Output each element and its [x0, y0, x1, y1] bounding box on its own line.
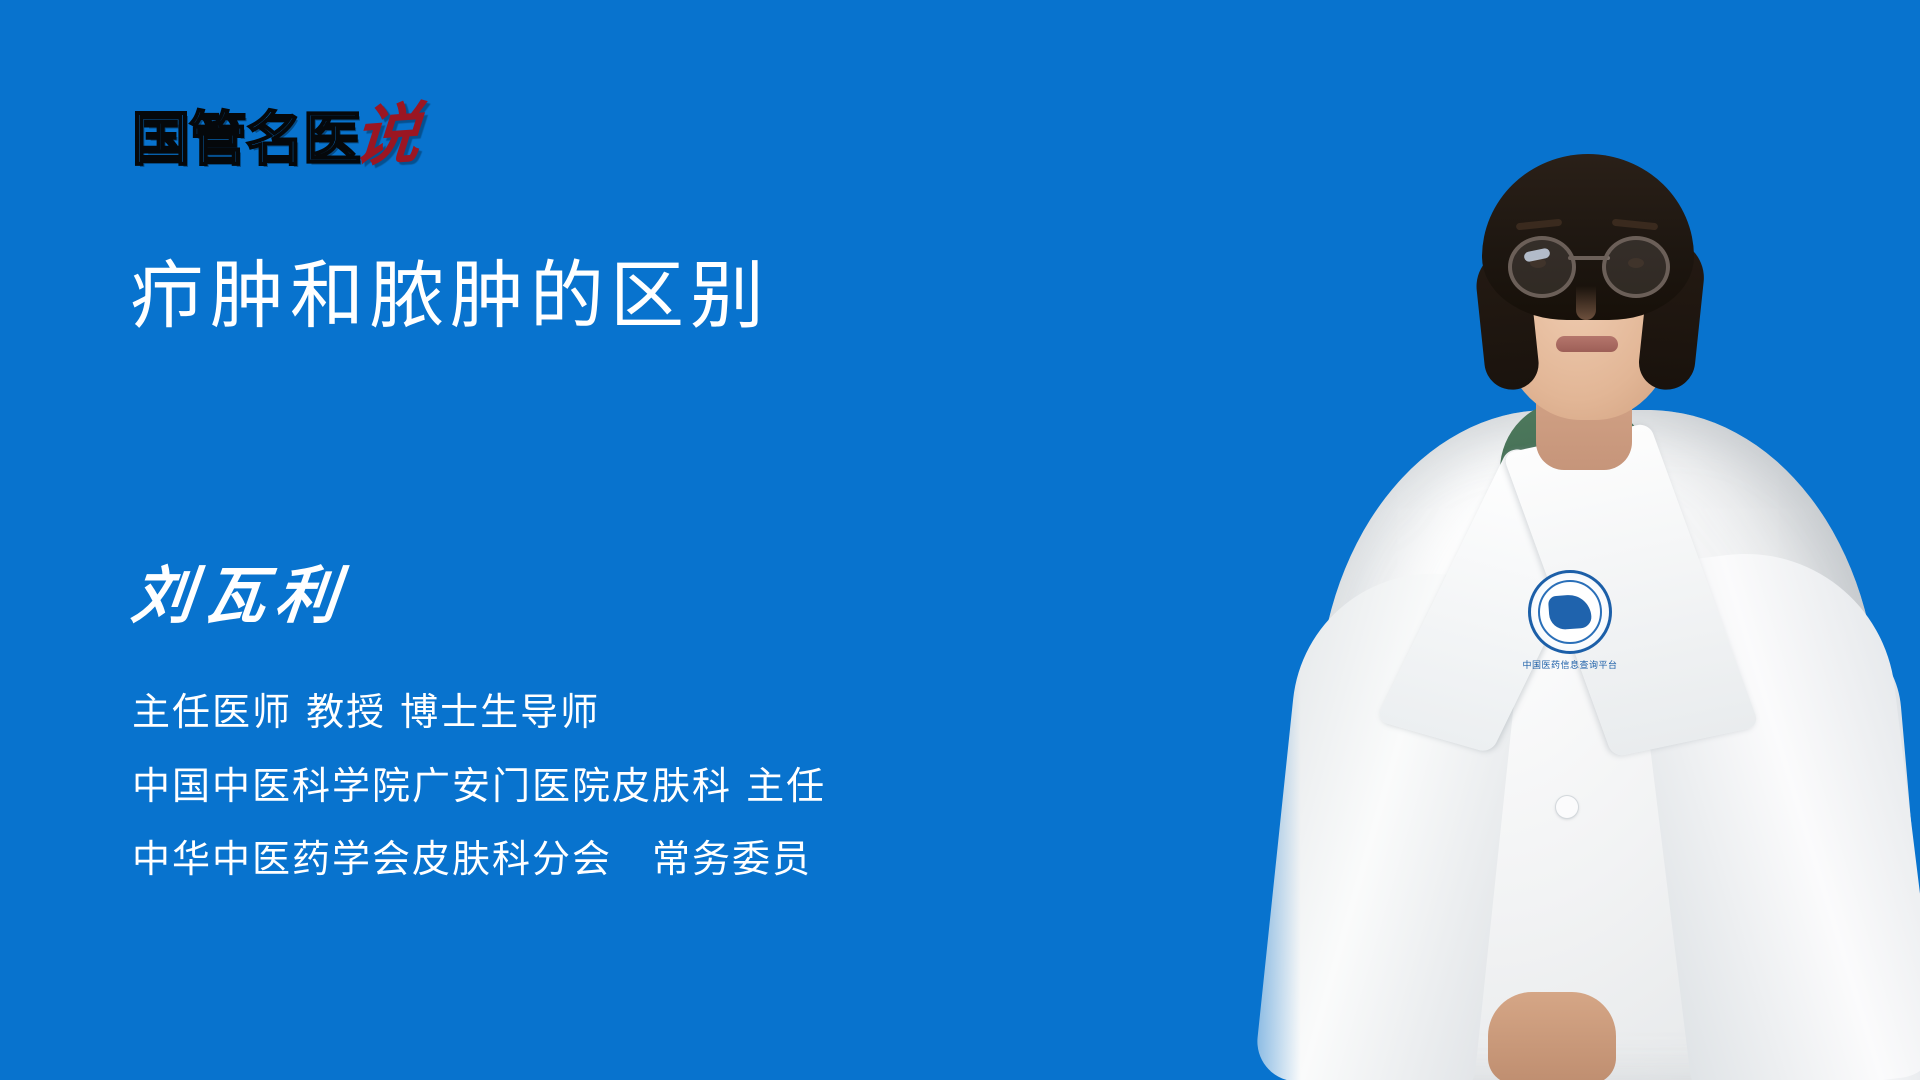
- eye-left: [1530, 258, 1546, 268]
- lens-glare: [1523, 247, 1551, 262]
- eyebrow-right: [1612, 219, 1658, 231]
- hands: [1488, 992, 1616, 1080]
- coat-button: [1556, 796, 1578, 818]
- coat-left-lapel: [1376, 447, 1625, 754]
- coat-right-arm: [1693, 612, 1920, 1080]
- doctor-credentials: 主任医师 教授 博士生导师 中国中医科学院广安门医院皮肤科 主任 中华中医药学会…: [132, 690, 826, 883]
- glasses-icon: [1506, 236, 1672, 290]
- head: [1500, 198, 1676, 420]
- coat-left-arm: [1296, 624, 1508, 1080]
- brand-logo-main-text: 国管名医: [132, 110, 360, 168]
- credential-line: 中华中医药学会皮肤科分会 常务委员: [132, 837, 826, 883]
- doctor-name: 刘瓦利: [129, 565, 352, 627]
- doctor-portrait-photo: 中国医药信息查询平台: [1200, 0, 1920, 1080]
- badge-label: 中国医药信息查询平台: [1523, 658, 1618, 671]
- coat-badge: 中国医药信息查询平台: [1524, 570, 1616, 680]
- glasses-bridge: [1568, 256, 1610, 260]
- china-map-icon: [1548, 594, 1592, 631]
- lab-coat: [1318, 410, 1878, 1080]
- slide-canvas: 国管名医 说 疖肿和脓肿的区别 刘瓦利 主任医师 教授 博士生导师 中国中医科学…: [0, 0, 1920, 1080]
- glasses-left-lens: [1508, 236, 1576, 298]
- hair-left-side: [1473, 248, 1541, 393]
- hair-right-side: [1636, 237, 1707, 392]
- mouth: [1556, 336, 1618, 352]
- badge-emblem-icon: [1528, 570, 1612, 654]
- hair: [1482, 154, 1694, 320]
- glasses-right-lens: [1602, 236, 1670, 298]
- brand-logo-accent-text: 说: [351, 100, 422, 170]
- coat-left-shoulder: [1253, 560, 1526, 1080]
- brand-logo: 国管名医 说: [132, 96, 420, 168]
- green-inner-top: [1500, 400, 1650, 610]
- page-title: 疖肿和脓肿的区别: [130, 256, 770, 337]
- coat-right-shoulder: [1628, 537, 1920, 1080]
- coat-right-lapel: [1502, 423, 1759, 758]
- eyebrow-left: [1516, 219, 1562, 231]
- eye-right: [1628, 258, 1644, 268]
- nose: [1576, 286, 1596, 320]
- photo-edge-fade: [1200, 0, 1920, 1080]
- credential-line: 主任医师 教授 博士生导师: [132, 690, 826, 736]
- neck: [1536, 340, 1632, 470]
- credential-line: 中国中医科学院广安门医院皮肤科 主任: [132, 764, 826, 810]
